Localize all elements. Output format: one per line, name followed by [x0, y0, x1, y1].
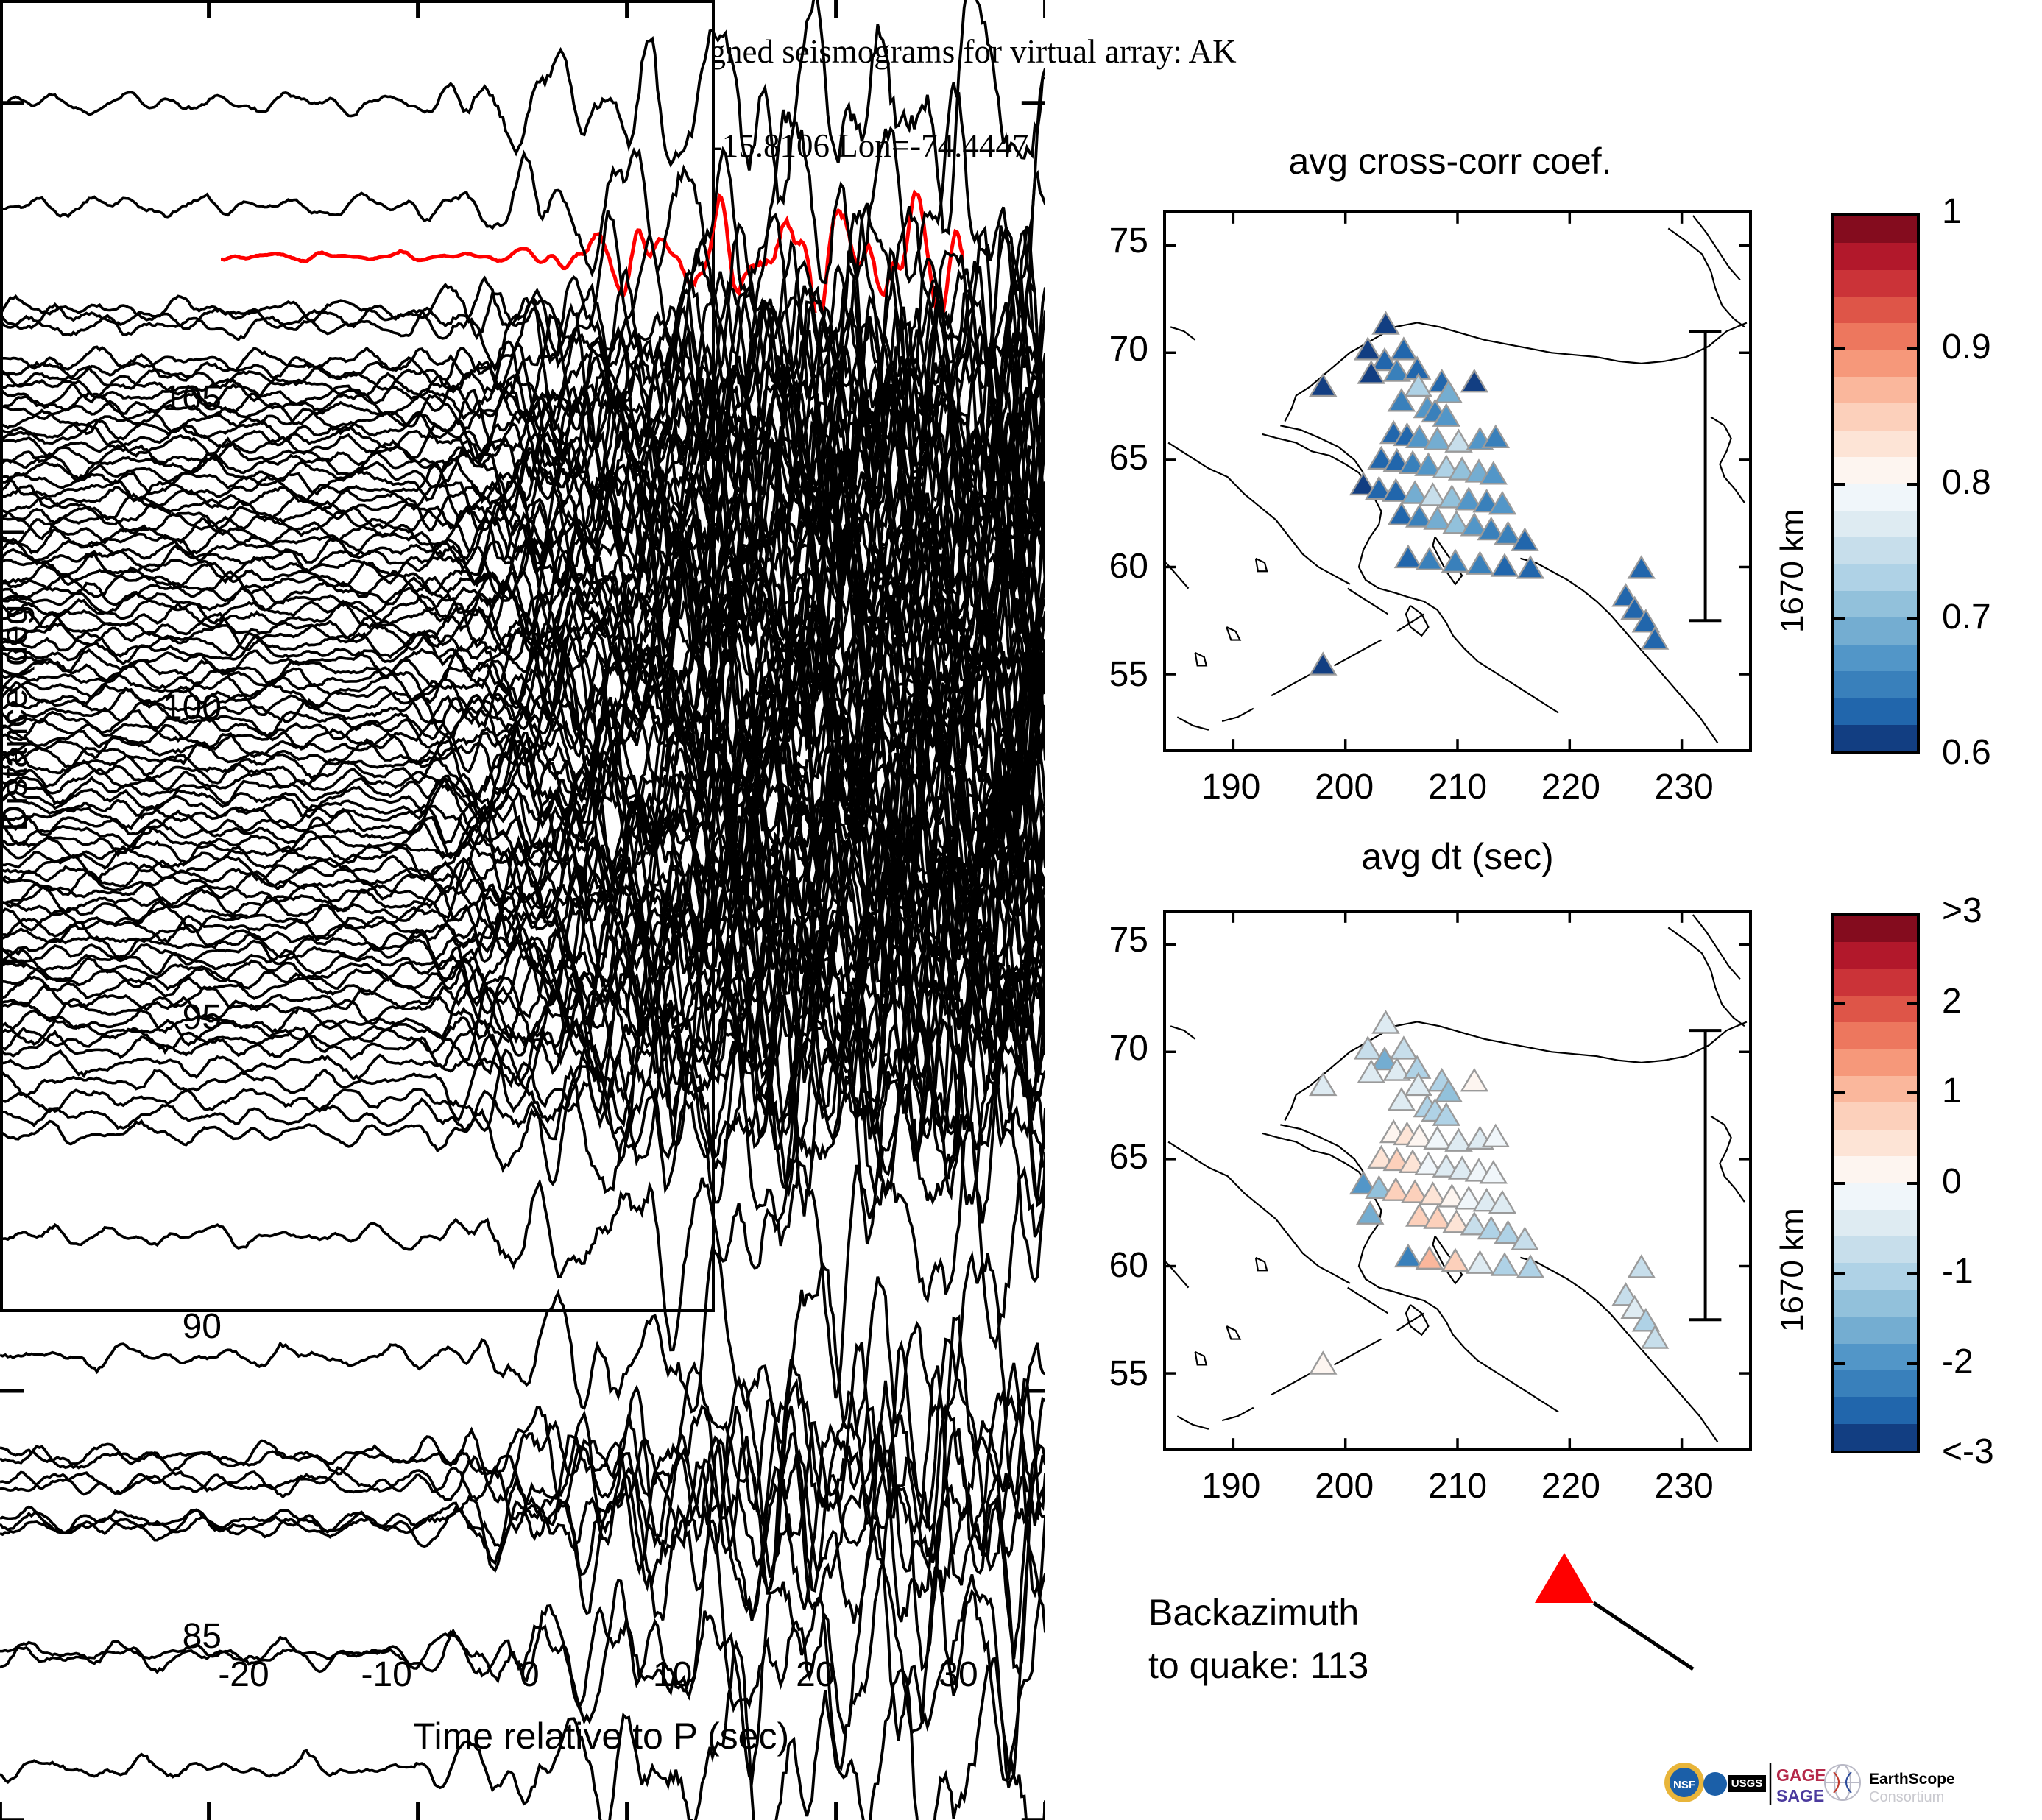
colorbar-tick [1907, 483, 1918, 486]
backazimuth-ray-line [1594, 1603, 1693, 1669]
coastline [1397, 615, 1424, 631]
coastline [1711, 1116, 1724, 1125]
colorbar-segment [1834, 1022, 1917, 1049]
coastline [1195, 1352, 1207, 1365]
map-top-scalebar-label: 1670 km [1774, 509, 1811, 633]
seismogram-axes [0, 0, 715, 1312]
colorbar-tick [1907, 1182, 1918, 1185]
station-marker-triangle [1424, 1207, 1449, 1228]
station-marker-triangle [1483, 1125, 1508, 1147]
station-marker-triangle [1396, 546, 1421, 567]
coastline [1256, 1258, 1267, 1270]
map-bot-lon-tick-190: 190 [1172, 1466, 1290, 1506]
coastline [1348, 1288, 1388, 1314]
earthscope-globe-icon [1825, 1765, 1860, 1800]
backazimuth-annotation: Backazimuth to quake: 113 [1148, 1586, 1368, 1692]
colorbar-segment [1834, 1344, 1917, 1370]
colorbar-segment [1834, 511, 1917, 537]
colorbar-segment [1834, 671, 1917, 698]
colorbar-segment [1834, 1317, 1917, 1343]
coastline [1170, 327, 1195, 340]
map-bot-lon-tick-210: 210 [1399, 1466, 1516, 1506]
colorbar-segment [1834, 1102, 1917, 1129]
colorbar-segment [1834, 916, 1917, 942]
colorbar-tick [1833, 1272, 1845, 1275]
colorbar-tick [1833, 1091, 1845, 1094]
colorbar-tick [1833, 1362, 1845, 1365]
colorbar-segment [1834, 457, 1917, 484]
colorbar-segment [1834, 942, 1917, 969]
coastline [1226, 1326, 1240, 1339]
station-marker-triangle [1424, 508, 1449, 529]
colorbar-segment [1834, 645, 1917, 671]
colorbar-tick [1907, 1091, 1918, 1094]
seismogram-x-tick-20: 20 [757, 1654, 875, 1695]
coastline [1520, 559, 1717, 743]
coastline [1285, 1086, 1309, 1121]
coastline [1406, 1305, 1428, 1335]
map-bot-lon-tick-220: 220 [1512, 1466, 1630, 1506]
coastline [1177, 1416, 1209, 1429]
colorbar-tick [1907, 1272, 1918, 1275]
seismogram-y-tick-85: 85 [89, 1616, 222, 1657]
cbar-bot-labels-6: <-3 [1942, 1431, 1994, 1472]
station-marker-triangle [1373, 313, 1398, 334]
colorbar-segment [1834, 969, 1917, 996]
station-marker-triangle [1391, 1038, 1416, 1059]
station-marker-triangle [1629, 1256, 1654, 1278]
coastline [1711, 417, 1724, 426]
coastline [1177, 717, 1209, 730]
coastline [1668, 927, 1745, 1026]
seismogram-x-tick-neg10: -10 [328, 1654, 445, 1695]
coastline [1285, 387, 1309, 422]
coastline [1226, 627, 1240, 640]
colorbar-segment [1834, 484, 1917, 510]
station-marker-triangle [1355, 1038, 1380, 1059]
colorbar-segment [1834, 1210, 1917, 1236]
map-bot-lon-tick-200: 200 [1285, 1466, 1403, 1506]
coastline [1334, 640, 1381, 666]
coastline [1280, 1125, 1363, 1172]
map-top-lat-tick-55: 55 [1038, 654, 1148, 695]
colorbar-tick [1833, 483, 1845, 486]
cbar-bot-labels-5: -2 [1942, 1342, 1974, 1382]
station-marker-triangle [1373, 1012, 1398, 1033]
backazimuth-line-1: Backazimuth [1148, 1586, 1368, 1639]
seismogram-x-tick-neg20: -20 [185, 1654, 303, 1695]
cbar-bot-labels-3: 0 [1942, 1161, 1962, 1202]
nsf-logo-icon: NSF [1664, 1763, 1704, 1802]
colorbar-segment [1834, 1397, 1917, 1423]
coastline [1170, 1026, 1195, 1039]
station-marker-triangle [1518, 1256, 1543, 1278]
sage-logo-text: SAGE [1776, 1786, 1824, 1805]
seismogram-y-tick-105: 105 [89, 378, 222, 419]
colorbar-segment [1834, 1049, 1917, 1076]
coastline [1720, 425, 1744, 503]
colorbar-segment [1834, 564, 1917, 590]
station-marker-triangle [1310, 654, 1335, 675]
map-top-lon-tick-190: 190 [1172, 767, 1290, 807]
coastline [1348, 589, 1388, 615]
station-marker-triangle [1417, 548, 1442, 570]
colorbar-tick [1833, 617, 1845, 620]
station-marker-triangle [1483, 426, 1508, 447]
coastline [1693, 216, 1740, 280]
colorbar-segment [1834, 1424, 1917, 1451]
map-bot-lon-tick-230: 230 [1625, 1466, 1743, 1506]
logo-bar: NSF USGS GAGE SAGE EarthScope Consortium [1660, 1753, 1969, 1812]
colorbar-segment [1834, 617, 1917, 644]
map-bot-lat-tick-70: 70 [1038, 1028, 1148, 1069]
colorbar-segment [1834, 350, 1917, 377]
colorbar-segment [1834, 1290, 1917, 1317]
coastline [1168, 1142, 1350, 1283]
station-marker-triangle [1467, 553, 1492, 574]
gage-logo-text: GAGE [1776, 1766, 1826, 1785]
map-top-lon-tick-230: 230 [1625, 767, 1743, 807]
earthscope-logo-text: EarthScope [1869, 1771, 1955, 1788]
seismogram-y-tick-90: 90 [89, 1306, 222, 1347]
cbar-bot-labels-2: 1 [1942, 1071, 1962, 1111]
colorbar-tick [1833, 1182, 1845, 1185]
map-top-title: avg cross-corr coef. [1163, 140, 1737, 183]
map-bottom-scalebar-label: 1670 km [1774, 1208, 1811, 1332]
station-marker-triangle [1310, 1074, 1335, 1095]
cbar-bot-labels-0: >3 [1942, 890, 1982, 931]
coastline [1693, 915, 1740, 979]
coastline [1256, 559, 1267, 571]
map-bottom-title: avg dt (sec) [1163, 835, 1752, 878]
seismogram-y-axis-label: Distance (deg) [0, 592, 35, 832]
station-marker-triangle [1462, 1069, 1487, 1091]
seismogram-y-tick-95: 95 [89, 997, 222, 1038]
coastline [1222, 709, 1254, 721]
map-bot-lat-tick-65: 65 [1038, 1137, 1148, 1178]
seismogram-x-tick-30: 30 [900, 1654, 1017, 1695]
seismogram-x-axis-label: Time relative to P (sec) [244, 1715, 958, 1757]
seismogram-traces [0, 0, 1045, 1820]
colorbar-segment [1834, 1183, 1917, 1209]
map-top-axes [1163, 210, 1752, 752]
station-marker-triangle [1391, 339, 1416, 360]
colorbar-tick [1833, 1002, 1845, 1005]
coastline [1668, 228, 1745, 327]
cbar-top-labels-0: 1 [1942, 191, 1962, 232]
consortium-logo-text: Consortium [1869, 1789, 1944, 1805]
seismogram-x-tick-10: 10 [614, 1654, 732, 1695]
station-marker-triangle [1310, 375, 1335, 396]
cbar-top-labels-3: 0.7 [1942, 597, 1991, 637]
cbar-bot-labels-4: -1 [1942, 1251, 1974, 1292]
map-top-lat-tick-75: 75 [1038, 221, 1148, 261]
cbar-bot-labels-1: 2 [1942, 981, 1962, 1021]
station-marker-triangle [1518, 557, 1543, 578]
seismogram-x-tick-0: 0 [470, 1654, 588, 1695]
coastline [1195, 653, 1207, 666]
colorbar-segment [1834, 431, 1917, 457]
svg-text:NSF: NSF [1673, 1779, 1695, 1791]
colorbar-segment [1834, 996, 1917, 1022]
coastline [1397, 1314, 1424, 1331]
map-bot-lat-tick-55: 55 [1038, 1353, 1148, 1394]
backazimuth-station-triangle-icon [1535, 1553, 1594, 1603]
colorbar-segment [1834, 1236, 1917, 1263]
cbar-top-labels-4: 0.6 [1942, 732, 1991, 773]
colorbar-segment [1834, 1130, 1917, 1156]
colorbar-segment [1834, 537, 1917, 564]
usgs-logo-icon: USGS [1703, 1772, 1766, 1796]
colorbar-segment [1834, 591, 1917, 617]
colorbar-segment [1834, 1156, 1917, 1183]
coastline [1222, 1408, 1254, 1420]
colorbar-tick [1907, 1002, 1918, 1005]
coastline [1168, 443, 1350, 584]
map-bot-lat-tick-75: 75 [1038, 920, 1148, 960]
colorbar-segment [1834, 403, 1917, 430]
station-marker-triangle [1492, 555, 1517, 576]
station-marker-triangle [1462, 370, 1487, 392]
station-marker-triangle [1424, 1127, 1449, 1149]
station-marker-triangle [1467, 1252, 1492, 1273]
backazimuth-line-2: to quake: 113 [1148, 1639, 1368, 1692]
cbar-top-labels-1: 0.9 [1942, 327, 1991, 367]
coastline [1280, 425, 1363, 472]
station-marker-triangle [1424, 428, 1449, 450]
coastline [1720, 1125, 1744, 1202]
map-bot-lat-tick-60: 60 [1038, 1245, 1148, 1286]
station-marker-triangle [1492, 1254, 1517, 1275]
cbar-top-labels-2: 0.8 [1942, 462, 1991, 503]
colorbar-segment [1834, 1263, 1917, 1289]
colorbar-tick [1833, 347, 1845, 350]
map-bottom-axes [1163, 910, 1752, 1451]
coastline [1406, 606, 1428, 636]
map-top-lon-tick-210: 210 [1399, 767, 1516, 807]
seismogram-panel: 859095100105 -20-100102030 Distance (deg… [0, 0, 1045, 1820]
colorbar-segment [1834, 377, 1917, 403]
seismogram-y-tick-100: 100 [89, 687, 222, 728]
colorbar-segment [1834, 323, 1917, 350]
station-marker-triangle [1355, 339, 1380, 360]
colorbar-segment [1834, 270, 1917, 297]
colorbar-segment [1834, 1370, 1917, 1397]
colorbar-tick [1907, 617, 1918, 620]
backazimuth-indicator [1509, 1538, 1730, 1685]
station-marker-triangle [1629, 557, 1654, 578]
svg-text:USGS: USGS [1731, 1777, 1763, 1790]
colorbar-tick [1907, 1362, 1918, 1365]
map-top-lon-tick-200: 200 [1285, 767, 1403, 807]
map-top-lat-tick-60: 60 [1038, 546, 1148, 587]
station-marker-triangle [1417, 1247, 1442, 1269]
colorbar-segment [1834, 1076, 1917, 1102]
station-marker-triangle [1396, 1245, 1421, 1267]
seismogram-trace [0, 0, 1045, 233]
colorbar-segment [1834, 216, 1917, 243]
colorbar-segment [1834, 297, 1917, 323]
colorbar-segment [1834, 698, 1917, 724]
map-top-lon-tick-220: 220 [1512, 767, 1630, 807]
colorbar-tick [1907, 347, 1918, 350]
station-marker-triangle [1310, 1353, 1335, 1374]
map-top-lat-tick-70: 70 [1038, 329, 1148, 369]
coastline [1334, 1339, 1381, 1365]
map-top-lat-tick-65: 65 [1038, 438, 1148, 478]
colorbar-segment [1834, 725, 1917, 751]
coastline [1520, 1258, 1717, 1442]
colorbar-segment [1834, 243, 1917, 269]
